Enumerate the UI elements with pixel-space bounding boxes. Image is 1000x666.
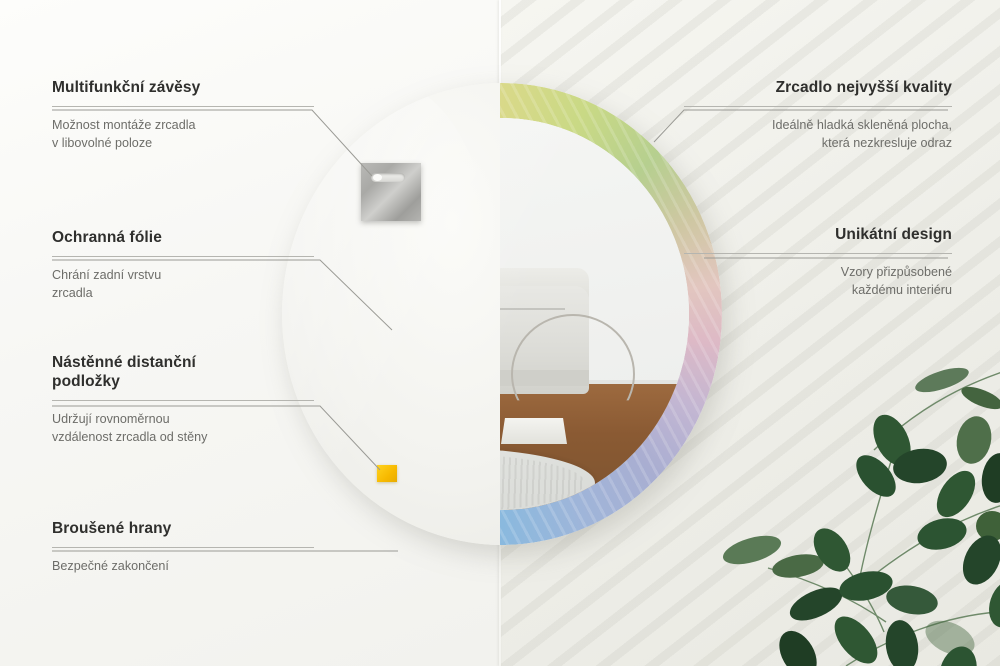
callout-unikatni-design: Unikátní design Vzory přizpůsobené každé… (684, 225, 952, 299)
callout-desc-line1: Udržují rovnoměrnou (52, 412, 170, 426)
callout-title: Unikátní design (684, 225, 952, 244)
callout-rule (52, 106, 314, 107)
reflected-lamp-shade (501, 418, 567, 444)
callout-description: Udržují rovnoměrnou vzdálenost zrcadla o… (52, 411, 314, 446)
callout-desc-line1: Vzory přizpůsobené (841, 265, 952, 279)
wall-hanging-bracket (361, 163, 421, 221)
callout-desc-line2: vzdálenost zrcadla od stěny (52, 430, 207, 444)
callout-title: Broušené hrany (52, 519, 314, 538)
foliage-leaves (720, 363, 1000, 666)
callout-rule (52, 256, 314, 257)
callout-title-line1: Nástěnné distanční (52, 354, 196, 371)
callout-rule (52, 400, 314, 401)
callout-desc-line2: která nezkresluje odraz (822, 136, 952, 150)
callout-rule (684, 253, 952, 254)
mirror-glass-surface (500, 118, 689, 510)
bracket-keyhole-slot (371, 173, 405, 182)
callout-desc-line2: každému interiéru (852, 283, 952, 297)
callout-rule (52, 547, 314, 548)
callout-description: Vzory přizpůsobené každému interiéru (684, 264, 952, 299)
callout-desc-line2: v libovolné poloze (52, 136, 152, 150)
callout-title-line2: podložky (52, 373, 120, 390)
callout-title: Zrcadlo nejvyšší kvality (684, 78, 952, 97)
callout-description: Ideálně hladká skleněná plocha, která ne… (684, 117, 952, 152)
callout-title: Nástěnné distanční podložky (52, 353, 314, 391)
callout-desc-line1: Chrání zadní vrstvu (52, 268, 161, 282)
callout-desc-line1: Ideálně hladká skleněná plocha, (772, 118, 952, 132)
foliage-decoration (706, 354, 1000, 666)
callout-zrcadlo-nejvyssi-kvality: Zrcadlo nejvyšší kvality Ideálně hladká … (684, 78, 952, 152)
round-mirror-product (282, 83, 722, 545)
callout-ochranna-folie: Ochranná fólie Chrání zadní vrstvu zrcad… (52, 228, 314, 302)
callout-description: Bezpečné zakončení (52, 558, 314, 576)
callout-desc-line2: zrcadla (52, 286, 93, 300)
infographic-canvas: Multifunkční závěsy Možnost montáže zrca… (0, 0, 1000, 666)
mirror-photographic-half (500, 83, 722, 545)
mirror-body (282, 83, 722, 545)
callout-description: Chrání zadní vrstvu zrcadla (52, 267, 314, 302)
callout-title: Multifunkční závěsy (52, 78, 314, 97)
callout-multifunkcni-zavesy: Multifunkční závěsy Možnost montáže zrca… (52, 78, 314, 152)
wall-spacer-pad (377, 465, 397, 482)
callout-rule (684, 106, 952, 107)
reflected-sofa-cushion-seam (500, 308, 565, 310)
callout-desc-line1: Bezpečné zakončení (52, 559, 169, 573)
callout-nastenne-distancni-podlozky: Nástěnné distanční podložky Udržují rovn… (52, 353, 314, 446)
callout-title: Ochranná fólie (52, 228, 314, 247)
callout-description: Možnost montáže zrcadla v libovolné polo… (52, 117, 314, 152)
callout-desc-line1: Možnost montáže zrcadla (52, 118, 196, 132)
callout-brousene-hrany: Broušené hrany Bezpečné zakončení (52, 519, 314, 576)
